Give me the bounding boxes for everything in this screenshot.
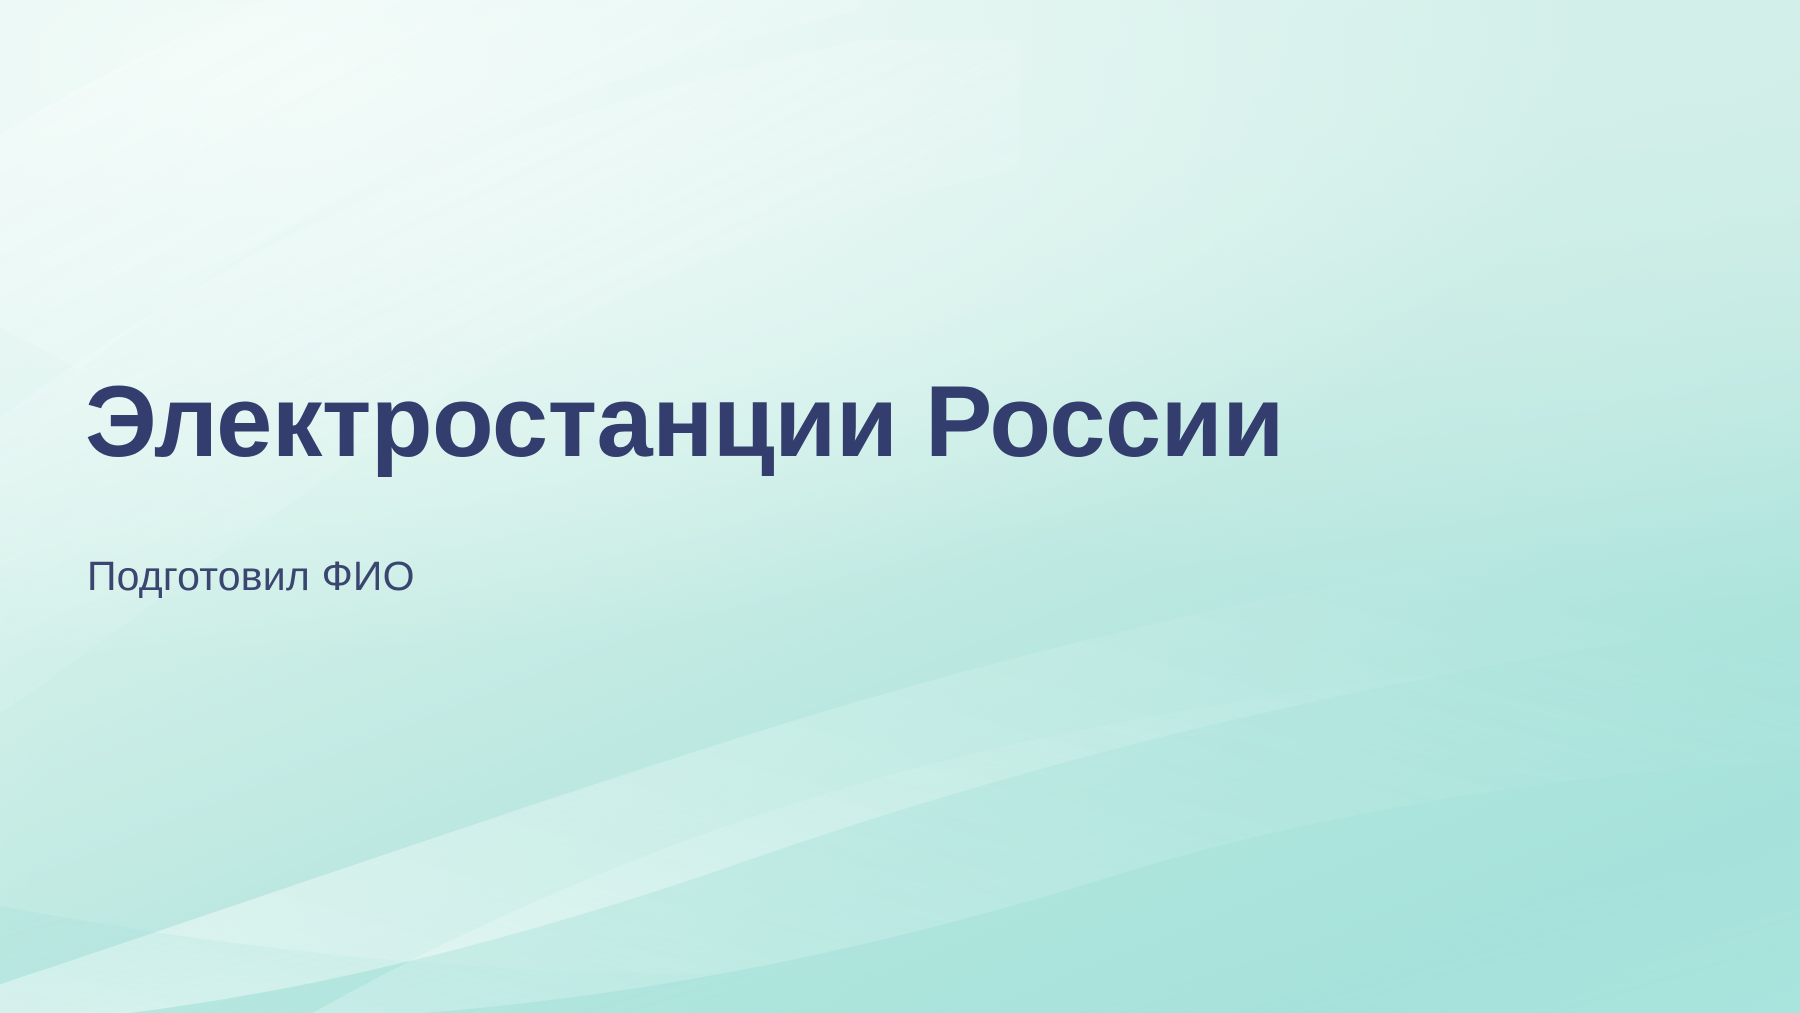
slide-title: Электростанции России — [85, 372, 1284, 473]
title-slide: Электростанции России Подготовил ФИО — [0, 0, 1800, 1013]
slide-text-block: Электростанции России Подготовил ФИО — [85, 0, 1725, 1013]
slide-subtitle-author: Подготовил ФИО — [87, 552, 415, 601]
